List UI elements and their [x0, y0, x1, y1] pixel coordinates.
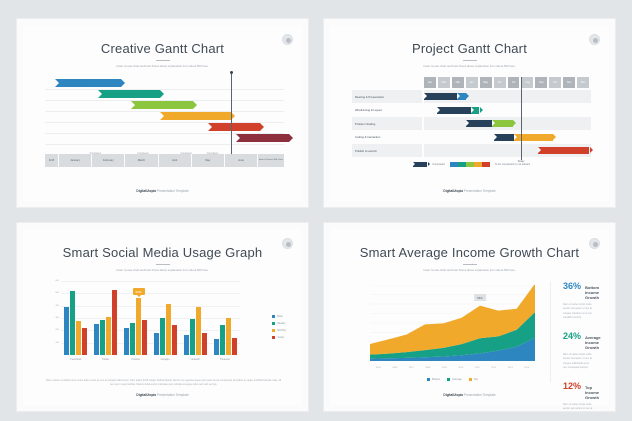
gantt-bar-segment [492, 120, 512, 127]
gantt-bar-segment [514, 134, 552, 141]
x-axis-label: Youtube [121, 358, 151, 361]
gantt-row-label: Problem Scaling [352, 117, 422, 130]
bar[interactable] [94, 324, 99, 355]
bar[interactable] [232, 338, 237, 355]
bar[interactable] [166, 304, 171, 355]
slide-surface: Creative Gantt Chart Insert mouse chart … [23, 25, 302, 201]
footer-brand: DigitalUtopia [136, 393, 156, 397]
bar-group: Linkedin [180, 281, 210, 355]
gantt-task-label: Problem Analysis and Stage Formation [166, 115, 214, 118]
slide-badge-icon[interactable] [282, 238, 293, 249]
gantt-month-cell: Mar [452, 77, 466, 88]
gantt-month-cell: Aug [521, 77, 535, 88]
stat-name: Average Income Growth [585, 335, 601, 350]
x-axis-label: Pinterest [210, 358, 240, 361]
y-axis-tick: 300 [55, 317, 59, 319]
gantt-task-bar[interactable]: Meeting & Presentation [55, 79, 122, 87]
stat-body: Nam ut varius turpis node auctor sed qua… [563, 303, 593, 320]
legend-color-chip [458, 162, 466, 167]
gantt-month-header: JanFebMarAprMayJunJulAugSepOctNovDec [424, 77, 591, 88]
page-subtitle: Insert mouse chart and brief himes about… [62, 268, 263, 272]
bar[interactable] [124, 328, 129, 355]
page-subtitle: Insert mouse chart and brief himes about… [369, 64, 570, 68]
gantt-month-cell: Apr [466, 77, 480, 88]
bar-chart-plot: 600500400300200100 FacebookTwitterYoutub… [61, 281, 240, 355]
legend-item[interactable]: Average [447, 378, 462, 381]
legend-swatch [272, 336, 275, 339]
y-axis-tick: 200 [55, 329, 59, 331]
legend-swatch [427, 378, 430, 381]
legend-label: Average [452, 378, 462, 381]
today-marker-line [231, 73, 232, 157]
stat-body: Nam ut varius turpis node auctor sed qua… [563, 353, 593, 370]
legend-label: Yearly [277, 336, 284, 339]
bar[interactable] [130, 323, 135, 355]
x-axis-tick: 2011 [469, 367, 486, 369]
legend-color-chip [474, 162, 482, 167]
axis-year: 2015 [45, 154, 59, 167]
axis-end-label: End of Project 30th June [258, 154, 284, 167]
legend-label: Daily [277, 315, 283, 318]
y-axis-tick: 100 [55, 342, 59, 344]
bar[interactable] [136, 298, 141, 355]
legend-label: Bottom [432, 378, 440, 381]
legend-color-chip [450, 162, 458, 167]
legend-swatch [272, 329, 275, 332]
x-axis-label: Google+ [150, 358, 180, 361]
bar[interactable] [226, 318, 231, 355]
x-axis-tick: 2012 [486, 367, 503, 369]
slide-badge-icon[interactable] [589, 238, 600, 249]
bar[interactable] [142, 320, 147, 355]
gantt-task-label: Programming PHP & CSS [214, 126, 246, 129]
stat-percent: 24% [563, 331, 581, 341]
gantt-row-line [45, 89, 284, 90]
gantt-row-label: Meeting & Presentation [352, 90, 422, 103]
bar-chart: 600500400300200100 FacebookTwitterYoutub… [47, 281, 286, 371]
axis-month: March [125, 154, 158, 167]
footer-rest: Presentation Template [463, 393, 496, 397]
legend-item[interactable]: Daily [272, 315, 286, 318]
gantt-bar-segment [466, 120, 493, 127]
area-chart: 560049004200350028002100140070056% 20052… [354, 281, 539, 383]
bar-group: Youtube52% [121, 281, 151, 355]
legend-remaining-label: To be completed or not started [495, 163, 530, 166]
slide-creative-gantt[interactable]: Creative Gantt Chart Insert mouse chart … [16, 18, 309, 208]
stat-percent: 36% [563, 281, 581, 291]
bar[interactable] [172, 325, 177, 355]
gantt-rows: Meeting & PresentationWireframing & Layo… [352, 90, 591, 158]
page-title: Smart Average Income Growth Chart [330, 229, 609, 260]
project-gantt-chart: JanFebMarAprMayJunJulAugSepOctNovDec Mee… [352, 77, 591, 179]
slide-surface: Smart Social Media Usage Graph Insert mo… [23, 229, 302, 405]
bar[interactable] [112, 290, 117, 355]
bar[interactable] [106, 317, 111, 355]
area-tooltip: 56% [474, 294, 486, 301]
legend-color-chip [482, 162, 490, 167]
gantt-task-label: Delivery & Launch [242, 137, 265, 140]
gantt-bar-segment [437, 107, 470, 114]
footer-rest: Presentation Template [156, 393, 189, 397]
gantt-task-bar[interactable]: Delivery & Launch [236, 134, 289, 142]
gantt-task-label: Experiment & Wireframing [137, 104, 170, 107]
bar[interactable] [220, 325, 225, 355]
stat-header: 24%Average Income Growth [563, 331, 593, 350]
footer-brand: DigitalUtopia [443, 393, 463, 397]
gantt-task-bar[interactable] [424, 93, 591, 100]
gantt-month-cell: May [480, 77, 494, 88]
footer-rest: Presentation Template [463, 189, 496, 193]
x-axis-tick: 2014 [519, 367, 536, 369]
bar-chart-legend: DailyWeeklyMonthlyYearly [272, 315, 286, 343]
creative-gantt-chart: Meeting & PresentationConcept & Problem … [45, 77, 284, 175]
title-divider [463, 264, 477, 265]
bar-group: Pinterest [210, 281, 240, 355]
gantt-task-bar[interactable]: Problem Analysis and Stage Formation [160, 112, 232, 120]
stat-header: 36%Bottom Income Growth [563, 281, 593, 300]
stat-body: Nam ut varius turpis node auctor sed var… [563, 403, 593, 412]
gantt-month-cell: Jun [494, 77, 508, 88]
gantt-task-bar[interactable]: Experiment & Wireframing [131, 101, 193, 109]
gantt-row-track [424, 117, 591, 130]
gantt-row[interactable]: Meeting & Presentation [352, 90, 591, 103]
legend-swatch [272, 315, 275, 318]
title-divider [156, 264, 170, 265]
income-stat: 36%Bottom Income GrowthNam ut varius tur… [563, 281, 593, 320]
today-marker-line [521, 77, 522, 160]
gantt-row-track [424, 104, 591, 117]
gantt-bar-segment [494, 134, 514, 141]
x-axis-tick: 2006 [387, 367, 404, 369]
bar[interactable] [202, 333, 207, 355]
axis-month: January [59, 154, 92, 167]
gantt-bar-segment [471, 107, 479, 114]
legend-completed-label: Completed [432, 163, 445, 166]
gantt-row[interactable]: Publish & Launch [352, 144, 591, 157]
bar[interactable] [70, 291, 75, 355]
x-axis-tick: 2009 [436, 367, 453, 369]
x-axis-label: Linkedin [180, 358, 210, 361]
slide-income-growth[interactable]: Smart Average Income Growth Chart Insert… [323, 222, 616, 412]
x-axis-tick: 2008 [420, 367, 437, 369]
gantt-month-cell: Nov [563, 77, 577, 88]
gantt-legend: CompletedTo be completed or not started [352, 162, 591, 167]
slide-badge-icon[interactable] [282, 34, 293, 45]
legend-swatch [447, 378, 450, 381]
bar[interactable] [196, 307, 201, 355]
legend-label: Monthly [277, 329, 286, 332]
x-axis-label: Facebook [61, 358, 91, 361]
bar-group: Facebook [61, 281, 91, 355]
bar[interactable] [184, 335, 189, 355]
gantt-row[interactable]: Problem Scaling [352, 117, 591, 130]
gantt-month-cell: Dec [577, 77, 591, 88]
gantt-row-label: Coding & Interaction [352, 131, 422, 144]
gantt-timeline-axis: 2015JanuaryFebruaryMarchAprilMayJuneEnd … [45, 154, 284, 167]
y-axis-tick: 600 [55, 280, 59, 282]
gantt-task-bar[interactable] [424, 107, 591, 114]
gantt-row-label: Publish & Launch [352, 144, 422, 157]
slide-social-media[interactable]: Smart Social Media Usage Graph Insert mo… [16, 222, 309, 412]
page-subtitle: Insert mouse chart and brief himes about… [62, 64, 263, 68]
y-axis-tick: 500 [55, 292, 59, 294]
x-axis-label: Twitter [91, 358, 121, 361]
title-divider [463, 60, 477, 61]
legend-remaining-swatch [450, 162, 490, 167]
gantt-row-track [424, 90, 591, 103]
legend-item[interactable]: Bottom [427, 378, 440, 381]
gantt-task-bar[interactable] [424, 134, 591, 141]
income-stats-panel: 36%Bottom Income GrowthNam ut varius tur… [550, 281, 593, 383]
gantt-month-cell: Oct [549, 77, 563, 88]
legend-swatch [469, 378, 472, 381]
title-divider [156, 60, 170, 61]
slide-footer: DigitalUtopia Presentation Template [330, 393, 609, 397]
footer-brand: DigitalUtopia [443, 189, 463, 193]
bar[interactable] [214, 339, 219, 355]
gantt-task-bar[interactable]: Concept & Problem Solving [98, 90, 160, 98]
area-chart-svg: 5600490042003500280021001400700 [370, 285, 535, 361]
bar-group: Google+ [150, 281, 180, 355]
footer-rest: Presentation Template [156, 189, 189, 193]
gantt-row[interactable]: Coding & Interaction [352, 131, 591, 144]
slide-footer: DigitalUtopia Presentation Template [23, 393, 302, 397]
bar-group: Twitter [91, 281, 121, 355]
slide-footer: DigitalUtopia Presentation Template [23, 189, 302, 193]
axis-month: April [159, 154, 192, 167]
footer-brand: DigitalUtopia [136, 189, 156, 193]
legend-color-chip [466, 162, 474, 167]
area-chart-xticks: 2005200620072008200920102011201220132014 [370, 367, 535, 369]
slide-gallery: Creative Gantt Chart Insert mouse chart … [0, 0, 632, 421]
page-title: Smart Social Media Usage Graph [23, 229, 302, 260]
page-title: Project Gantt Chart [330, 25, 609, 56]
legend-completed-swatch [413, 162, 427, 167]
y-axis-tick: 400 [55, 305, 59, 307]
bar[interactable] [154, 333, 159, 355]
gantt-bars: Meeting & PresentationConcept & Problem … [45, 79, 284, 149]
x-axis-tick: 2013 [502, 367, 519, 369]
legend-label: Top [474, 378, 478, 381]
legend-item[interactable]: Top [469, 378, 478, 381]
axis-month: February [92, 154, 125, 167]
x-axis-tick: 2005 [370, 367, 387, 369]
bar[interactable] [100, 320, 105, 355]
gantt-month-cell: Sep [535, 77, 549, 88]
gantt-row-label: Wireframing & Layout [352, 104, 422, 117]
legend-item[interactable]: Yearly [272, 336, 286, 339]
legend-item[interactable]: Weekly [272, 322, 286, 325]
income-stat: 24%Average Income GrowthNam ut varius tu… [563, 331, 593, 370]
bar-tooltip: 52% [133, 288, 145, 295]
slide-badge-icon[interactable] [589, 34, 600, 45]
bar[interactable] [82, 328, 87, 355]
slide-surface: Project Gantt Chart Insert mouse chart a… [330, 25, 609, 201]
x-axis-tick: 2007 [403, 367, 420, 369]
gantt-task-bar[interactable] [424, 147, 591, 154]
area-chart-plot: 560049004200350028002100140070056% [370, 285, 535, 361]
slide-surface: Smart Average Income Growth Chart Insert… [330, 229, 609, 405]
gantt-task-bar[interactable]: Programming PHP & CSS [208, 123, 261, 131]
axis-month: May [192, 154, 225, 167]
gantt-row[interactable]: Wireframing & Layout [352, 104, 591, 117]
slide-footer: DigitalUtopia Presentation Template [330, 189, 609, 193]
gantt-row-track [424, 131, 591, 144]
stat-percent: 12% [563, 381, 581, 391]
slide-project-gantt[interactable]: Project Gantt Chart Insert mouse chart a… [323, 18, 616, 208]
x-axis-tick: 2010 [453, 367, 470, 369]
legend-item[interactable]: Monthly [272, 329, 286, 332]
axis-month: June [225, 154, 258, 167]
area-chart-legend: BottomAverageTop [370, 378, 535, 381]
income-chart-area: 560049004200350028002100140070056% 20052… [354, 281, 593, 383]
page-subtitle: Insert mouse chart and brief himes about… [369, 268, 570, 272]
gantt-row-track [424, 144, 591, 157]
gantt-bar-segment [424, 93, 457, 100]
legend-label: Weekly [277, 322, 285, 325]
bar[interactable] [76, 321, 81, 355]
legend-swatch [272, 322, 275, 325]
gantt-task-bar[interactable] [424, 120, 591, 127]
gantt-row-line [45, 144, 284, 145]
gantt-bar-segment [457, 93, 465, 100]
today-dot-icon [230, 71, 233, 74]
chart-note: Nam ut ipsum curabitur ante metus felis … [45, 379, 282, 387]
gantt-month-cell: Jan [424, 77, 438, 88]
bar[interactable] [190, 319, 195, 355]
gantt-task-label: Concept & Problem Solving [104, 93, 138, 96]
stat-name: Bottom Income Growth [585, 285, 599, 300]
gantt-bar-segment [538, 147, 590, 154]
gantt-month-cell: Jul [508, 77, 522, 88]
bar[interactable] [64, 307, 69, 355]
page-title: Creative Gantt Chart [23, 25, 302, 56]
gantt-task-label: Meeting & Presentation [61, 82, 90, 85]
stat-header: 12%Top Income Growth [563, 381, 593, 400]
gantt-month-cell: Feb [438, 77, 452, 88]
bar[interactable] [160, 318, 165, 355]
bar-chart-groups: FacebookTwitterYoutube52%Google+Linkedin… [61, 281, 240, 355]
